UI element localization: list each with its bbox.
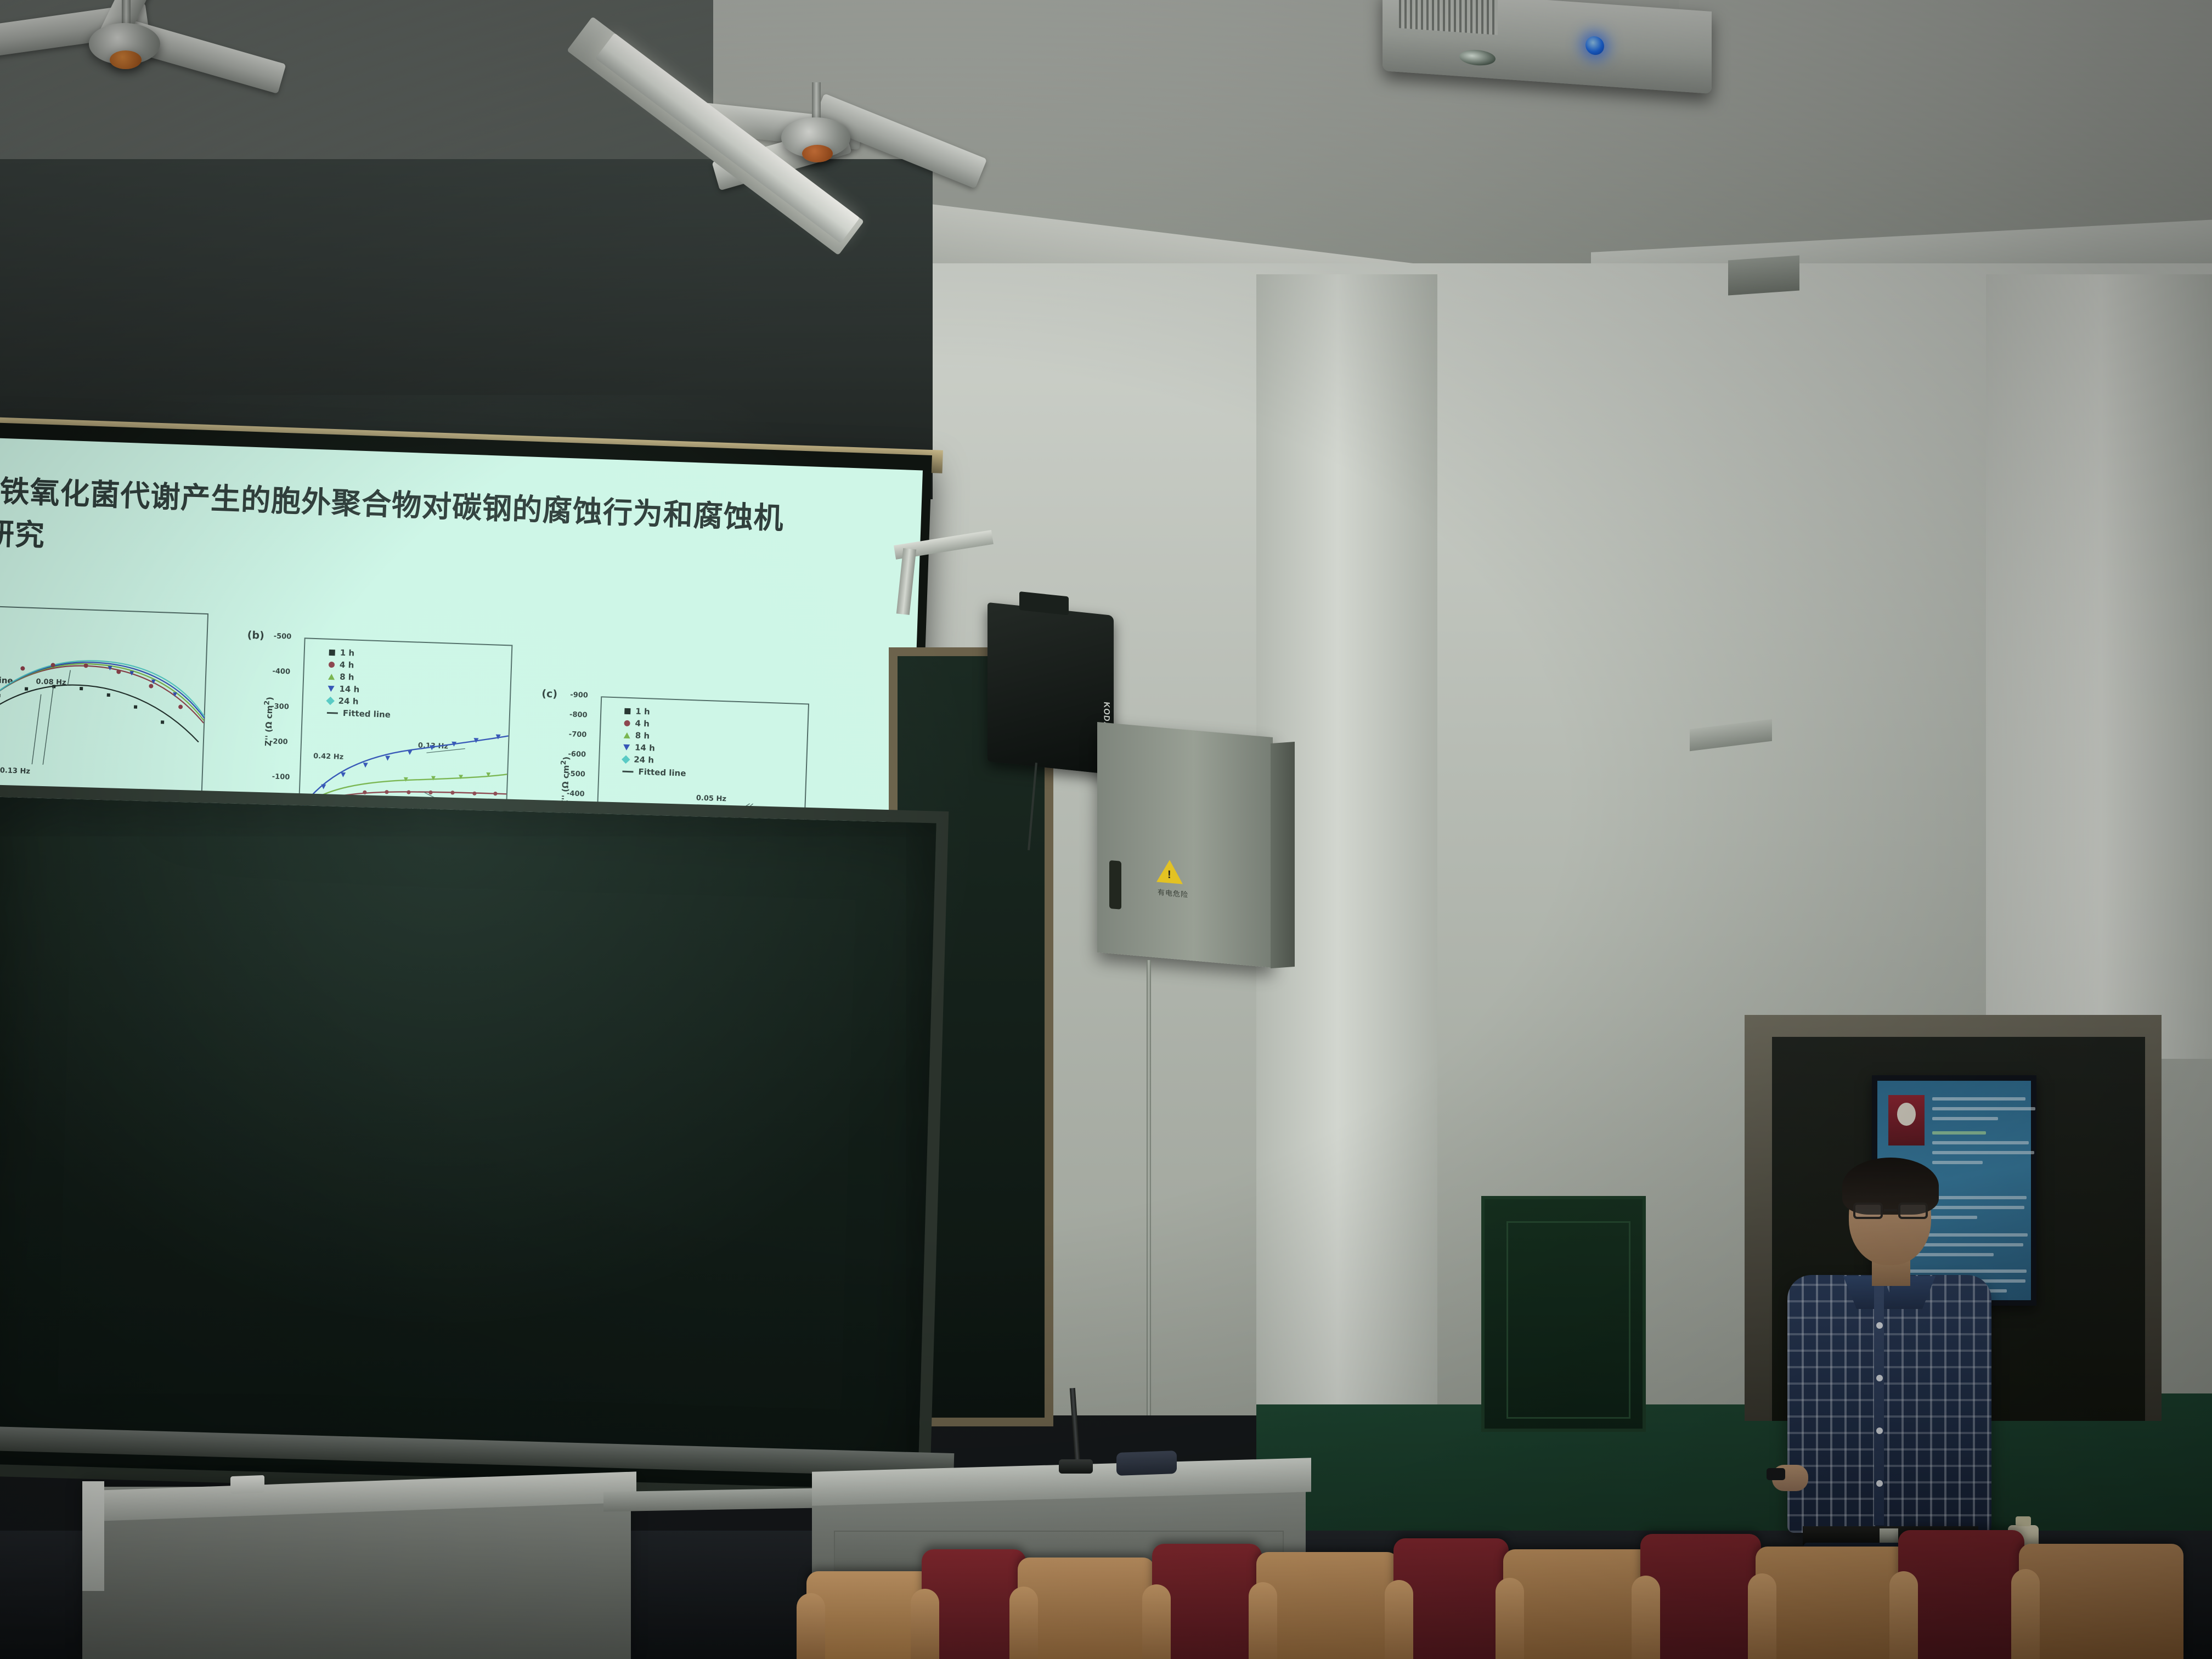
seat-armrest [1249,1582,1277,1659]
presenter-shirt-placket [1874,1284,1884,1525]
poster-text-line [1932,1107,2035,1110]
lectern-side-panel [82,1481,104,1591]
panel-b-ytick: -500 [273,632,291,641]
seat-armrest [1142,1584,1171,1659]
blackboard [0,785,949,1503]
panel-b-ytick: -100 [272,772,290,781]
seat-armrest [911,1589,939,1659]
poster-text-line [1932,1141,2029,1144]
fan-hub-cap [110,50,142,69]
auditorium-seat [1256,1552,1399,1659]
cabinet-handle[interactable] [1109,860,1121,910]
presenter-shirt-button [1876,1322,1883,1329]
projector-lens-icon [1459,49,1496,67]
fan-downrod [812,82,821,123]
presenter-shirt-button [1876,1480,1883,1487]
seat-armrest [797,1593,825,1659]
seat-armrest [1009,1587,1038,1659]
panel-b-label: (b) [247,629,264,642]
cabinet-warning-label: 有电危险 [1151,886,1195,900]
presenter-shirt [1787,1275,1991,1533]
green-door[interactable] [1481,1196,1646,1432]
lecture-hall-photo: 1. 铁氧化菌代谢产生的胞外聚合物对碳钢的腐蚀行为和腐蚀机理研究 -500 -4… [0,0,2212,1659]
glasses-icon [1853,1203,1928,1219]
seat-armrest [1496,1578,1524,1659]
glasses-lens-left [1853,1203,1883,1219]
auditorium-seat [1756,1547,1909,1659]
ceiling-bracket [1728,255,1799,295]
bottle-cap [2016,1516,2031,1526]
projector-vent [1399,0,1498,35]
poster-portrait-photo [1888,1095,1925,1145]
cabinet-side [1271,742,1295,968]
glasses-lens-right [1898,1203,1928,1219]
panel-b-yaxis-label: Z'' (Ω cm2) [261,697,275,747]
panel-c-yaxis-label: Z'' (Ω cm2) [557,757,571,806]
panel-b-data-svg [298,637,512,820]
panel-b-ytick: -400 [272,667,290,676]
seat-armrest [1889,1571,1918,1659]
fan-hub-cap [802,145,833,162]
poster-text-line [1932,1131,1986,1135]
auditorium-seat [2019,1544,2183,1659]
panel-c-ytick: -700 [569,730,587,739]
panel-c-ytick: -900 [570,691,588,699]
projector-power-led-icon [1585,36,1604,55]
seat-armrest [1748,1573,1776,1659]
wall-speaker: KODAJR [988,602,1114,775]
electrical-conduit [1147,960,1151,1415]
microphone-base [1059,1459,1093,1474]
panel-c-label: (c) [541,687,557,700]
electrical-cabinet[interactable]: 有电危险 [1097,722,1273,968]
warning-triangle-icon [1156,859,1183,884]
panel-c-ytick: -800 [569,710,588,719]
panel-a-data-svg [0,603,208,794]
seat-armrest [1385,1580,1413,1659]
presenter-belt-buckle [1880,1528,1898,1543]
presenter-shirt-button [1876,1427,1883,1434]
seat-armrest [1632,1576,1660,1659]
poster-text-line [1932,1151,2034,1154]
presenter-shirt-button [1876,1375,1883,1381]
auditorium-seat [1503,1549,1651,1659]
wall-column-right [1986,274,2212,1059]
auditorium-seat [1018,1558,1155,1659]
seat-armrest [2011,1569,2040,1659]
ceiling-fan-left [0,0,384,143]
poster-text-line [1932,1117,1998,1120]
presenter [1772,1158,2002,1591]
blackboard-eraser[interactable] [1116,1451,1177,1476]
presentation-clicker[interactable] [1767,1468,1785,1480]
glasses-bridge [1884,1209,1897,1211]
chalk[interactable] [230,1475,264,1494]
slide-title: 1. 铁氧化菌代谢产生的胞外聚合物对碳钢的腐蚀行为和腐蚀机理研究 [0,469,812,584]
poster-text-line [1932,1097,2025,1101]
